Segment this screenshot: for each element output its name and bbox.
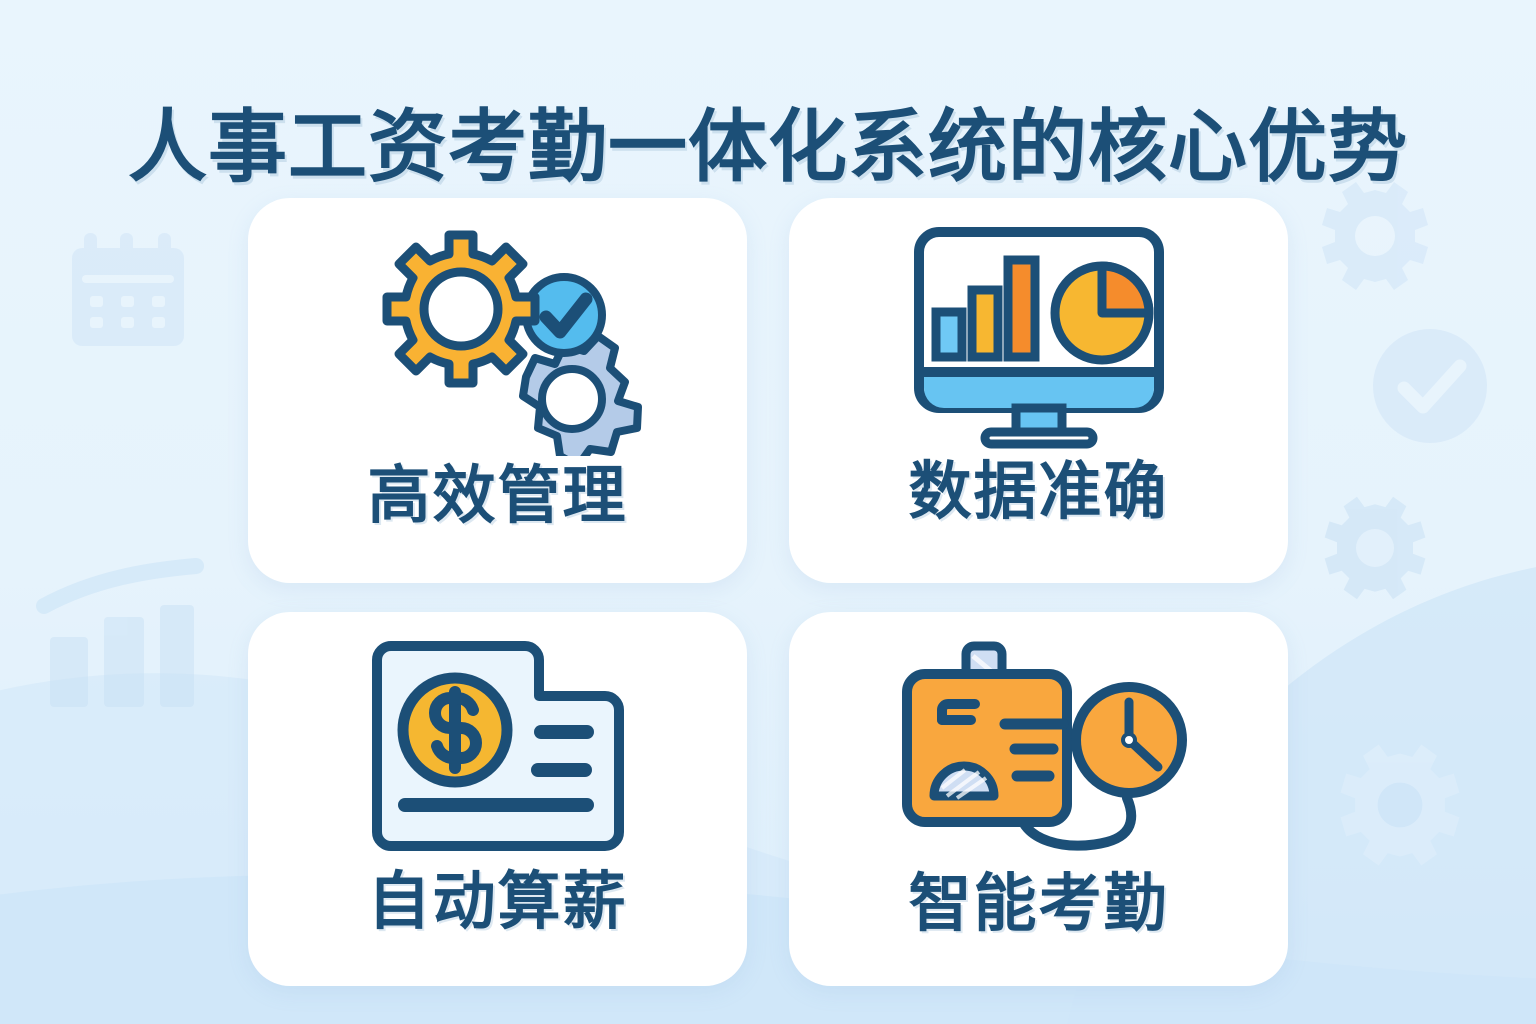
feature-card-label: 自动算薪 (368, 868, 628, 937)
feature-card-automatic-payroll[interactable]: 自动算薪 (248, 612, 747, 986)
feature-card-label: 高效管理 (368, 462, 628, 531)
feature-card-grid: 高效管理 (248, 198, 1288, 984)
pie-chart (1055, 266, 1149, 360)
trend-arrow-watermark (44, 566, 196, 606)
clock (1076, 687, 1182, 793)
feature-card-accurate-data[interactable]: 数据准确 (789, 198, 1288, 583)
gear-watermark-bottom-right (1341, 745, 1460, 866)
gear-watermark-right-lower (1325, 497, 1426, 600)
payslip-dollar-icon (348, 634, 648, 860)
bar-chart-watermark (50, 605, 194, 707)
feature-card-label: 数据准确 (909, 458, 1169, 527)
monitor-stand (985, 408, 1093, 444)
calendar-watermark (72, 233, 184, 346)
id-badge-clock-icon (889, 630, 1189, 862)
page-title: 人事工资考勤一体化系统的核心优势 (128, 107, 1408, 186)
id-badge (907, 674, 1067, 822)
large-gear (387, 235, 535, 383)
feature-card-efficient-management[interactable]: 高效管理 (248, 198, 747, 583)
check-circle-watermark (1373, 329, 1487, 443)
gears-check-icon (348, 224, 648, 456)
poster-canvas: 人事工资考勤一体化系统的核心优势 (0, 0, 1536, 1024)
dollar-coin (403, 678, 507, 782)
feature-card-label: 智能考勤 (909, 870, 1169, 939)
monitor-analytics-icon (889, 220, 1189, 452)
feature-card-smart-attendance[interactable]: 智能考勤 (789, 612, 1288, 986)
